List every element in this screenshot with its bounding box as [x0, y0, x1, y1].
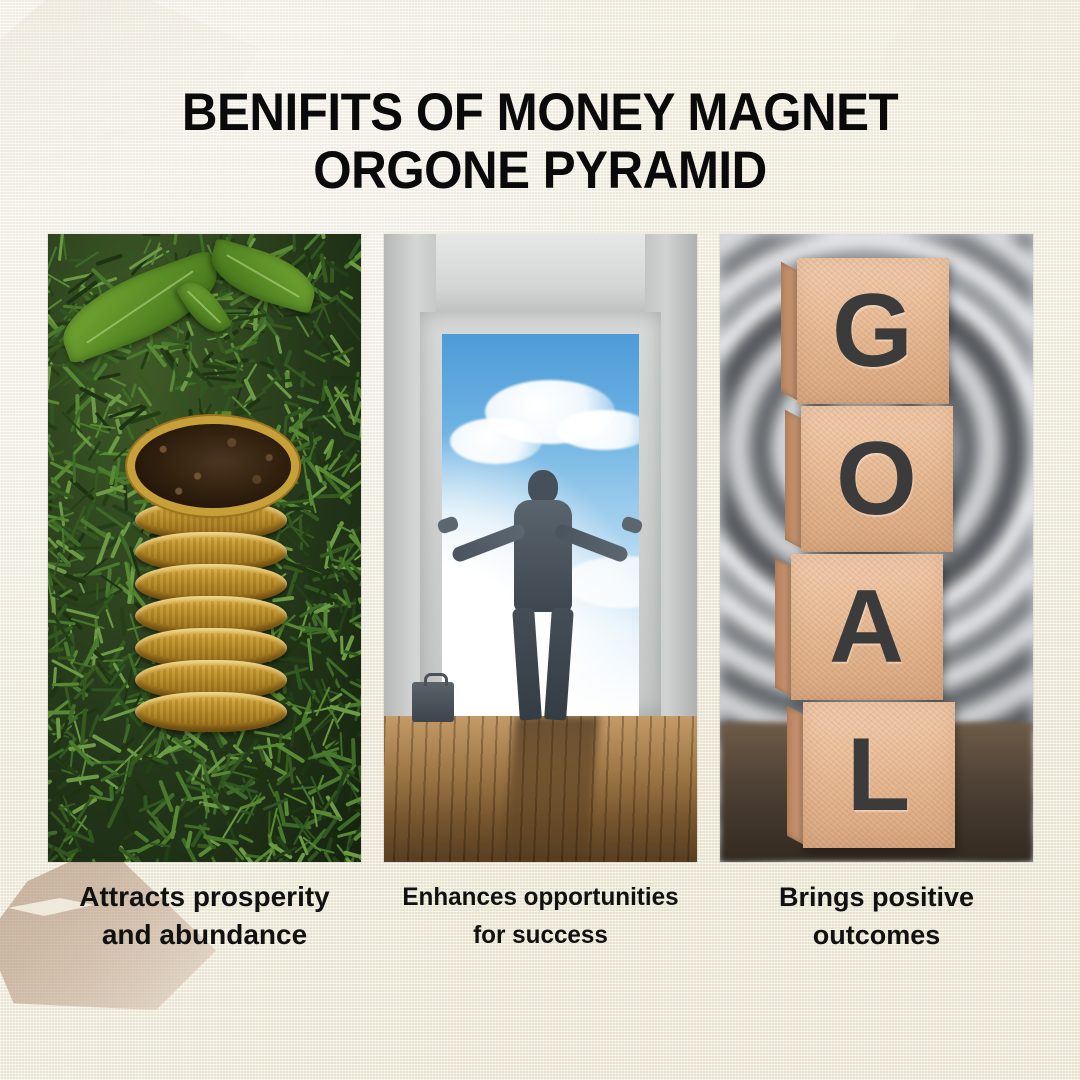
businessman-silhouette — [456, 470, 626, 722]
caption-line: Attracts prosperity — [48, 878, 361, 916]
caption-prosperity: Attracts prosperity and abundance — [48, 878, 361, 954]
figure-legs — [516, 608, 570, 720]
benefit-captions-row: Attracts prosperity and abundance Enhanc… — [48, 878, 1034, 954]
wooden-block: O — [801, 406, 953, 552]
caption-line: Enhances opportunities — [389, 878, 693, 916]
figure-torso — [514, 500, 572, 612]
caption-line: Brings positive — [720, 878, 1033, 916]
figure-leg-left — [512, 607, 542, 720]
wooden-block: A — [791, 554, 943, 700]
caption-line: for success — [389, 916, 693, 954]
block-letter: O — [836, 427, 917, 531]
benefit-image-goal: G O A L — [720, 234, 1033, 862]
figure-shadow — [503, 716, 600, 862]
block-letter: L — [847, 723, 911, 827]
wooden-block: L — [803, 702, 955, 848]
soil-top — [135, 424, 291, 508]
figure-leg-right — [544, 607, 574, 720]
caption-line: and abundance — [48, 916, 361, 954]
caption-line: outcomes — [720, 916, 1033, 954]
coin-stack — [135, 424, 287, 732]
wooden-floor — [384, 716, 697, 862]
briefcase — [412, 682, 454, 722]
title-line-2: ORGONE PYRAMID — [38, 142, 1042, 200]
coin — [135, 692, 287, 732]
title-line-1: BENIFITS OF MONEY MAGNET — [38, 84, 1042, 142]
goal-block-stack: G O A L — [797, 258, 957, 850]
figure-head — [528, 470, 558, 504]
block-letter: A — [829, 575, 904, 679]
caption-outcomes: Brings positive outcomes — [720, 878, 1033, 954]
soil-texture — [135, 424, 291, 508]
caption-opportunity: Enhances opportunities for success — [389, 878, 693, 954]
benefit-panels-row: G O A L — [48, 234, 1034, 862]
benefit-image-prosperity — [48, 234, 361, 862]
block-letter: G — [832, 279, 913, 383]
benefit-image-opportunity — [384, 234, 697, 862]
poster-canvas: BENIFITS OF MONEY MAGNET ORGONE PYRAMID — [0, 0, 1080, 1080]
page-title: BENIFITS OF MONEY MAGNET ORGONE PYRAMID — [0, 84, 1080, 200]
wooden-block: G — [797, 258, 949, 404]
